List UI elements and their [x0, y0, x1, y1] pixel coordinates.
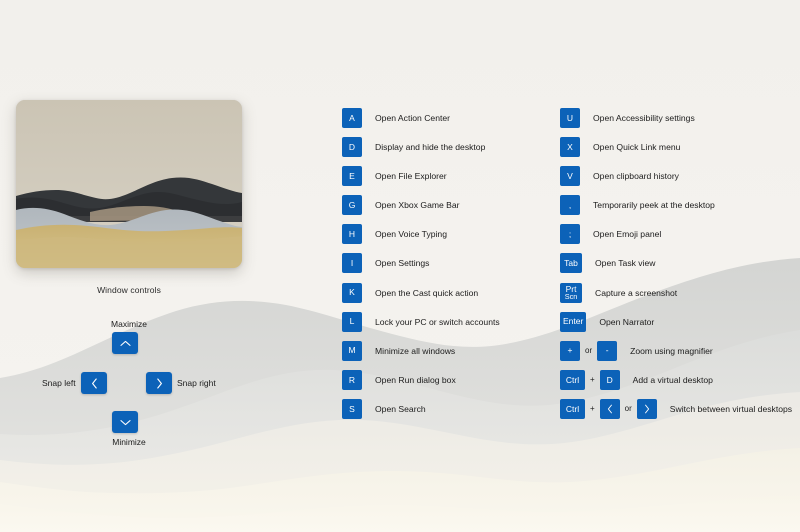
shortcut-row: ;Open Emoji panel — [560, 224, 792, 244]
key-d[interactable]: D — [342, 137, 362, 157]
key-m[interactable]: M — [342, 341, 362, 361]
shortcut-row: Ctrl+orSwitch between virtual desktops — [560, 399, 792, 419]
key-ctrl[interactable]: Ctrl — [560, 399, 585, 419]
shortcut-description: Open clipboard history — [593, 171, 679, 181]
key-g[interactable]: G — [342, 195, 362, 215]
shortcut-row: IOpen Settings — [342, 253, 500, 273]
shortcut-row: HOpen Voice Typing — [342, 224, 500, 244]
shortcut-row: LLock your PC or switch accounts — [342, 312, 500, 332]
shortcut-row: SOpen Search — [342, 399, 500, 419]
chevron-left-icon — [91, 378, 98, 389]
shortcut-row: TabOpen Task view — [560, 253, 792, 273]
shortcut-description: Temporarily peek at the desktop — [593, 200, 715, 210]
key-h[interactable]: H — [342, 224, 362, 244]
monitor-wallpaper-thumbnail — [16, 100, 242, 268]
key-ctrl[interactable]: Ctrl — [560, 370, 585, 390]
minimize-button[interactable] — [112, 411, 138, 433]
shortcut-description: Switch between virtual desktops — [670, 404, 792, 414]
shortcut-description: Zoom using magnifier — [630, 346, 713, 356]
shortcut-row: +or-Zoom using magnifier — [560, 341, 792, 361]
key-enter[interactable]: Enter — [560, 312, 586, 332]
shortcut-row: MMinimize all windows — [342, 341, 500, 361]
key-[interactable]: , — [560, 195, 580, 215]
monitor-caption: Window controls — [0, 285, 258, 295]
chevron-down-icon — [120, 419, 131, 426]
snap-right-label: Snap right — [177, 378, 216, 388]
snap-left-button[interactable] — [81, 372, 107, 394]
shortcut-row: PrtScnCapture a screenshot — [560, 283, 792, 303]
shortcut-description: Open Run dialog box — [375, 375, 456, 385]
minimize-label: Minimize — [0, 437, 258, 447]
key-v[interactable]: V — [560, 166, 580, 186]
shortcut-row: Ctrl+DAdd a virtual desktop — [560, 370, 792, 390]
shortcut-row: EOpen File Explorer — [342, 166, 500, 186]
key-l[interactable]: L — [342, 312, 362, 332]
key-separator: or — [620, 404, 637, 413]
key-[interactable]: ; — [560, 224, 580, 244]
snap-left-label: Snap left — [42, 378, 76, 388]
shortcut-description: Open Quick Link menu — [593, 142, 680, 152]
shortcuts-poster: Window controls Maximize Snap left Snap … — [0, 0, 800, 532]
shortcut-description: Open File Explorer — [375, 171, 447, 181]
chevron-up-icon — [120, 340, 131, 347]
shortcut-description: Open Accessibility settings — [593, 113, 695, 123]
wallpaper-art — [16, 100, 242, 268]
shortcut-description: Display and hide the desktop — [375, 142, 485, 152]
maximize-label: Maximize — [0, 319, 258, 329]
key-chevron-right-icon[interactable] — [637, 399, 657, 419]
key-e[interactable]: E — [342, 166, 362, 186]
key-tab[interactable]: Tab — [560, 253, 582, 273]
shortcut-row: UOpen Accessibility settings — [560, 108, 792, 128]
key-separator: or — [580, 346, 597, 355]
key-k[interactable]: K — [342, 283, 362, 303]
shortcut-row: VOpen clipboard history — [560, 166, 792, 186]
shortcut-row: XOpen Quick Link menu — [560, 137, 792, 157]
shortcut-description: Minimize all windows — [375, 346, 455, 356]
key-separator: + — [585, 404, 600, 413]
key-line: Scn — [565, 293, 578, 300]
shortcut-column-1: AOpen Action CenterDDisplay and hide the… — [342, 108, 500, 428]
window-controls-cluster: Maximize Snap left Snap right Minimize — [0, 312, 258, 437]
shortcut-row: AOpen Action Center — [342, 108, 500, 128]
shortcut-description: Capture a screenshot — [595, 288, 677, 298]
shortcut-row: EnterOpen Narrator — [560, 312, 792, 332]
chevron-right-icon — [156, 378, 163, 389]
key-u[interactable]: U — [560, 108, 580, 128]
shortcut-description: Open the Cast quick action — [375, 288, 478, 298]
shortcut-description: Open Task view — [595, 258, 656, 268]
key-[interactable]: + — [560, 341, 580, 361]
key-[interactable]: - — [597, 341, 617, 361]
shortcut-description: Open Voice Typing — [375, 229, 447, 239]
shortcut-description: Add a virtual desktop — [633, 375, 713, 385]
shortcut-description: Open Settings — [375, 258, 429, 268]
key-separator: + — [585, 375, 600, 384]
key-x[interactable]: X — [560, 137, 580, 157]
shortcut-description: Open Xbox Game Bar — [375, 200, 460, 210]
shortcut-description: Open Narrator — [599, 317, 654, 327]
key-prtscn[interactable]: PrtScn — [560, 283, 582, 303]
maximize-button[interactable] — [112, 332, 138, 354]
shortcut-description: Open Emoji panel — [593, 229, 661, 239]
snap-right-button[interactable] — [146, 372, 172, 394]
shortcut-row: GOpen Xbox Game Bar — [342, 195, 500, 215]
key-chevron-left-icon[interactable] — [600, 399, 620, 419]
shortcut-description: Open Action Center — [375, 113, 450, 123]
shortcut-description: Lock your PC or switch accounts — [375, 317, 500, 327]
shortcut-description: Open Search — [375, 404, 426, 414]
shortcut-row: ROpen Run dialog box — [342, 370, 500, 390]
shortcut-row: KOpen the Cast quick action — [342, 283, 500, 303]
key-s[interactable]: S — [342, 399, 362, 419]
shortcut-column-2: UOpen Accessibility settingsXOpen Quick … — [560, 108, 792, 428]
key-r[interactable]: R — [342, 370, 362, 390]
key-a[interactable]: A — [342, 108, 362, 128]
key-d[interactable]: D — [600, 370, 620, 390]
shortcut-row: ,Temporarily peek at the desktop — [560, 195, 792, 215]
shortcut-row: DDisplay and hide the desktop — [342, 137, 500, 157]
key-i[interactable]: I — [342, 253, 362, 273]
